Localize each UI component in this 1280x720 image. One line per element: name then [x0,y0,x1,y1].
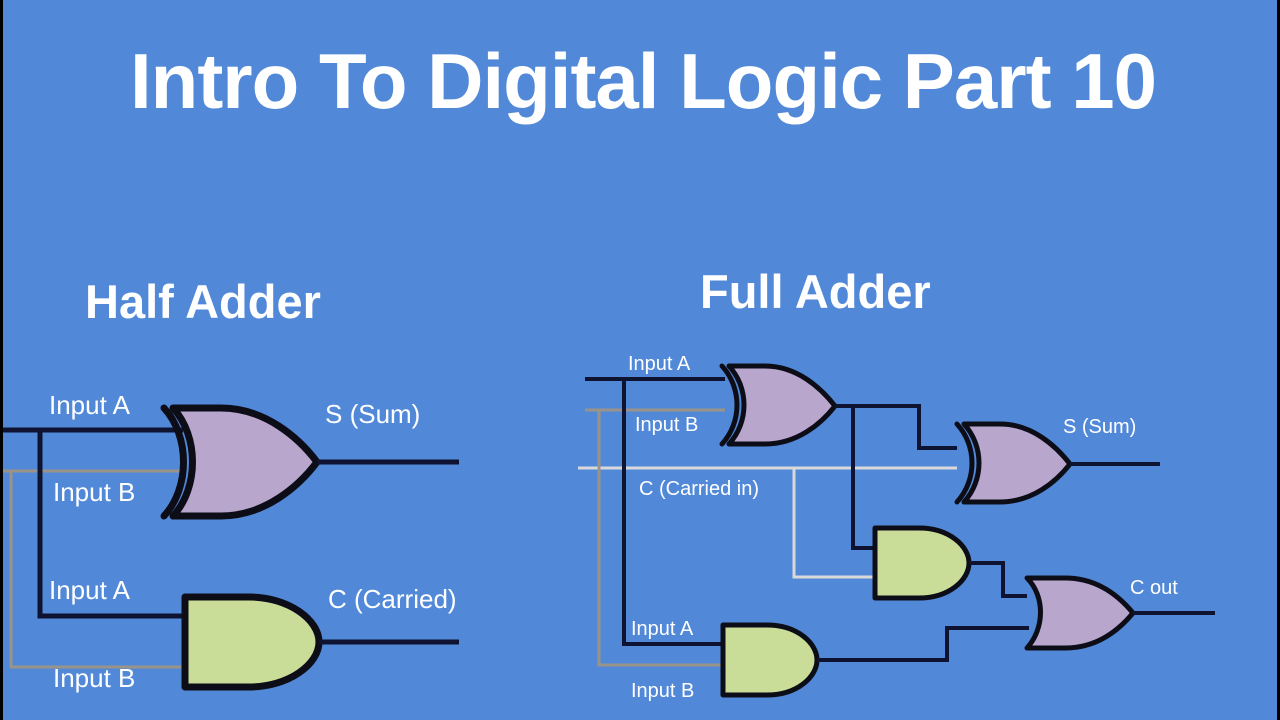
half-adder-xor-gate [164,408,317,516]
full-adder-cout-label: C out [1130,578,1178,598]
half-adder-xor-input-b-label: Input B [53,479,135,505]
half-adder-circuit [3,408,459,687]
full-adder-or-gate [1027,578,1133,648]
full-adder-and2-input-b-label: Input B [631,681,694,701]
half-adder-carry-label: C (Carried) [328,586,457,612]
half-adder-and-input-b-label: Input B [53,665,135,691]
full-adder-xor1-input-b-label: Input B [635,415,698,435]
full-adder-and-gate-2 [723,625,817,695]
half-adder-and-input-a-label: Input A [49,577,130,603]
full-adder-heading: Full Adder [700,268,931,315]
full-adder-xor1-input-a-label: Input A [628,354,690,374]
full-adder-and1-output-wire [969,563,1027,596]
full-adder-xor-gate-2 [957,424,1070,502]
slide-canvas: Intro To Digital Logic Part 10 Half Adde… [0,0,1280,720]
half-adder-and-gate [185,597,319,687]
full-adder-sum-label: S (Sum) [1063,417,1136,437]
full-adder-and2-output-wire [817,628,1029,660]
half-adder-xor-input-a-label: Input A [49,392,130,418]
full-adder-carry-in-label: C (Carried in) [639,479,759,499]
full-adder-and2-input-a-label: Input A [631,619,693,639]
page-title: Intro To Digital Logic Part 10 [3,42,1280,120]
full-adder-and-gate-1 [875,528,969,598]
half-adder-heading: Half Adder [85,278,321,325]
half-adder-sum-label: S (Sum) [325,401,420,427]
full-adder-xor-gate-1 [722,366,835,444]
